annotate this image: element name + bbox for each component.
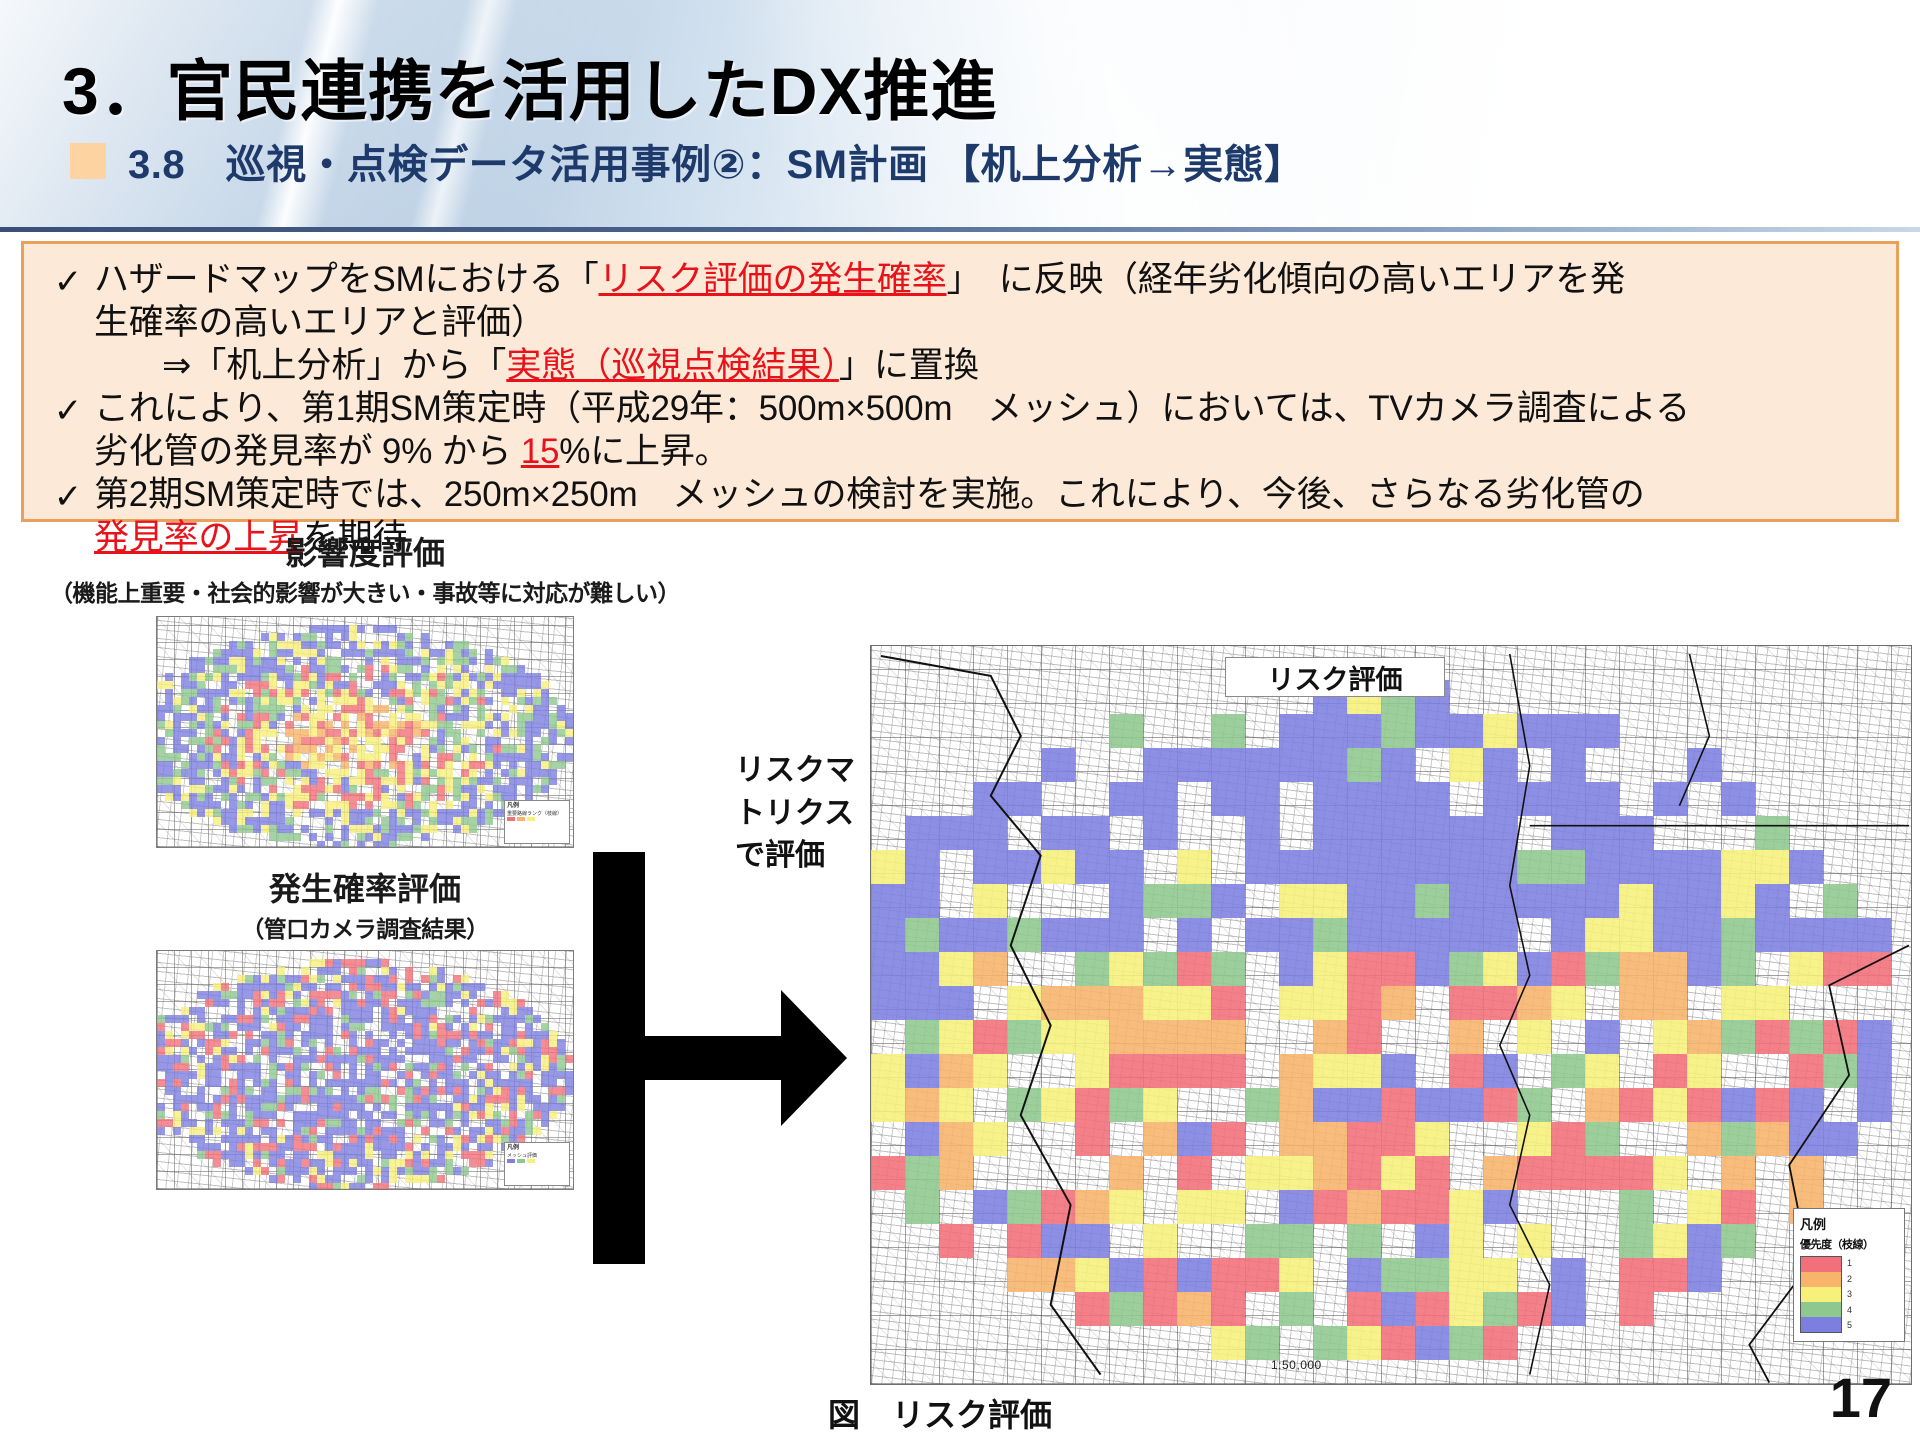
mesh-cell	[373, 705, 381, 713]
mesh-cell	[437, 753, 445, 761]
mesh-cell	[501, 657, 509, 665]
mesh-cell	[349, 785, 357, 793]
mesh-cell	[349, 975, 357, 983]
mesh-cell	[533, 689, 541, 697]
mesh-cell	[365, 1167, 373, 1175]
mesh-cell	[245, 729, 253, 737]
mesh-cell	[341, 1079, 349, 1087]
mesh-cell	[381, 817, 389, 825]
mesh-cell	[365, 793, 373, 801]
mesh-cell	[485, 681, 493, 689]
mesh-cell	[165, 777, 173, 785]
mesh-cell	[509, 1007, 517, 1015]
mesh-cell	[301, 785, 309, 793]
mesh-cell	[317, 689, 325, 697]
mesh-cell	[197, 705, 205, 713]
mesh-cell	[445, 817, 453, 825]
mesh-cell	[317, 649, 325, 657]
mesh-cell	[413, 1047, 421, 1055]
mesh-cell	[181, 1071, 189, 1079]
mesh-cell	[317, 793, 325, 801]
mesh-cell	[461, 1023, 469, 1031]
mesh-cell	[293, 769, 301, 777]
mesh-cell	[237, 689, 245, 697]
mesh-cell	[437, 1055, 445, 1063]
legend-rank-3: 3	[1847, 1287, 1852, 1302]
mesh-cell	[189, 761, 197, 769]
mesh-cell	[173, 1095, 181, 1103]
mesh-cell	[437, 1143, 445, 1151]
mesh-cell	[453, 785, 461, 793]
mesh-cell	[325, 1103, 333, 1111]
mesh-cell	[277, 983, 285, 991]
mesh-cell	[285, 1087, 293, 1095]
mesh-cell	[309, 1095, 317, 1103]
mesh-cell	[325, 753, 333, 761]
mesh-cell	[277, 769, 285, 777]
mesh-cell	[413, 801, 421, 809]
mesh-cell	[357, 809, 365, 817]
mesh-cell	[565, 1087, 573, 1095]
mesh-cell	[245, 1015, 253, 1023]
mesh-cell	[477, 673, 485, 681]
mesh-cell	[317, 1111, 325, 1119]
mesh-cell	[285, 689, 293, 697]
mesh-cell	[341, 785, 349, 793]
mesh-cell	[229, 1063, 237, 1071]
mesh-cell	[277, 1063, 285, 1071]
mesh-cell	[485, 1079, 493, 1087]
mesh-cell	[445, 1039, 453, 1047]
mesh-cell	[381, 991, 389, 999]
mesh-cell	[437, 713, 445, 721]
mesh-cell	[293, 1015, 301, 1023]
mesh-cell	[341, 999, 349, 1007]
mesh-cell	[333, 745, 341, 753]
mesh-cell	[373, 1135, 381, 1143]
mesh-cell	[269, 1159, 277, 1167]
legend-swatch-5	[1801, 1317, 1841, 1332]
mesh-cell	[229, 745, 237, 753]
mesh-cell	[317, 697, 325, 705]
mesh-cell	[453, 705, 461, 713]
mesh-cell	[253, 825, 261, 833]
mesh-cell	[333, 737, 341, 745]
mesh-cell	[245, 1047, 253, 1055]
mesh-cell	[333, 841, 341, 848]
mesh-cell	[437, 1039, 445, 1047]
mesh-cell	[309, 1007, 317, 1015]
mesh-cell	[493, 713, 501, 721]
mesh-cell	[373, 1039, 381, 1047]
mesh-cell	[293, 761, 301, 769]
mesh-cell	[333, 1183, 341, 1190]
mesh-cell	[493, 1079, 501, 1087]
mesh-cell	[373, 1095, 381, 1103]
legend-swatch-3	[527, 817, 535, 821]
mesh-cell	[181, 1039, 189, 1047]
mesh-cell	[189, 665, 197, 673]
mesh-cell	[229, 697, 237, 705]
mesh-cell	[357, 1007, 365, 1015]
mesh-cell	[213, 983, 221, 991]
mesh-cell	[205, 809, 213, 817]
mesh-cell	[333, 1175, 341, 1183]
mesh-cell	[357, 1079, 365, 1087]
mesh-cell	[253, 1111, 261, 1119]
mesh-cell	[509, 1087, 517, 1095]
mesh-cell	[205, 713, 213, 721]
mesh-cell	[469, 825, 477, 833]
mesh-cell	[181, 1023, 189, 1031]
mesh-cell	[445, 1151, 453, 1159]
mesh-cell	[381, 777, 389, 785]
mesh-cell	[525, 1007, 533, 1015]
mesh-cell	[261, 1167, 269, 1175]
mesh-cell	[293, 785, 301, 793]
mesh-cell	[413, 1135, 421, 1143]
mesh-cell	[197, 673, 205, 681]
mesh-cell	[373, 1167, 381, 1175]
mesh-cell	[445, 729, 453, 737]
bullet-item-2: ✓ これにより、第1期SM策定時（平成29年：500m×500m メッシュ）にお…	[42, 387, 1876, 473]
mesh-cell	[173, 1103, 181, 1111]
risk-matrix-label-line-3: で評価	[735, 835, 865, 878]
mesh-cell	[381, 1095, 389, 1103]
mesh-cell	[389, 641, 397, 649]
mesh-cell	[205, 1079, 213, 1087]
mesh-cell	[269, 975, 277, 983]
mesh-cell	[309, 777, 317, 785]
mesh-cell	[333, 785, 341, 793]
mesh-cell	[365, 689, 373, 697]
mesh-cell	[381, 975, 389, 983]
mesh-cell	[453, 1087, 461, 1095]
mesh-cell	[501, 665, 509, 673]
mesh-cell	[437, 991, 445, 999]
mesh-cell	[189, 1047, 197, 1055]
mesh-cell	[221, 737, 229, 745]
mesh-cell	[309, 959, 317, 967]
mesh-cell	[229, 1127, 237, 1135]
mesh-cell	[173, 713, 181, 721]
mesh-cell	[229, 777, 237, 785]
mesh-cell	[269, 1063, 277, 1071]
mesh-cell	[317, 1175, 325, 1183]
mesh-cell	[277, 1143, 285, 1151]
mesh-cell	[453, 793, 461, 801]
mesh-cell	[253, 983, 261, 991]
mesh-cell	[437, 975, 445, 983]
mesh-cell	[373, 975, 381, 983]
mesh-cell	[213, 1023, 221, 1031]
mesh-cell	[557, 1087, 565, 1095]
mesh-cell	[237, 753, 245, 761]
mesh-cell	[557, 1103, 565, 1111]
mesh-cell	[453, 1111, 461, 1119]
mesh-cell	[517, 1063, 525, 1071]
mesh-cell	[285, 1023, 293, 1031]
mesh-cell	[253, 689, 261, 697]
mesh-cell	[357, 967, 365, 975]
mesh-cell	[181, 1103, 189, 1111]
mesh-cell	[269, 1023, 277, 1031]
mesh-cell	[525, 737, 533, 745]
mesh-cell	[277, 1015, 285, 1023]
mesh-cell	[485, 721, 493, 729]
mesh-cell	[373, 793, 381, 801]
mesh-cell	[229, 657, 237, 665]
mesh-cell	[397, 705, 405, 713]
mesh-cell	[213, 753, 221, 761]
mesh-cell	[325, 1183, 333, 1190]
mesh-cell	[413, 1103, 421, 1111]
mesh-cell	[437, 1135, 445, 1143]
mesh-cell	[269, 793, 277, 801]
mesh-cell	[349, 777, 357, 785]
risk-legend-scale: 12345	[1800, 1256, 1898, 1333]
mesh-cell	[221, 753, 229, 761]
mesh-cell	[165, 705, 173, 713]
mesh-cell	[341, 681, 349, 689]
failure-probability-map[interactable]: 凡例 メッシュ評価	[156, 950, 574, 1190]
mesh-cell	[309, 1071, 317, 1079]
mesh-cell	[237, 777, 245, 785]
mesh-cell	[309, 1079, 317, 1087]
mesh-cell	[293, 689, 301, 697]
mesh-cell	[309, 641, 317, 649]
probability-map-legend: 凡例 メッシュ評価	[504, 1142, 570, 1186]
mesh-cell	[229, 689, 237, 697]
mesh-cell	[261, 721, 269, 729]
check-icon: ✓	[42, 473, 94, 518]
mesh-cell	[245, 1095, 253, 1103]
mesh-cell	[357, 841, 365, 848]
mesh-cell	[341, 1127, 349, 1135]
mesh-cell	[373, 649, 381, 657]
mesh-cell	[245, 1119, 253, 1127]
mesh-cell	[277, 1039, 285, 1047]
mesh-cell	[309, 1031, 317, 1039]
mesh-cell	[277, 967, 285, 975]
mesh-cell	[341, 1007, 349, 1015]
mesh-cell	[309, 737, 317, 745]
mesh-cell	[205, 1151, 213, 1159]
mesh-cell	[469, 1047, 477, 1055]
mesh-cell	[293, 1023, 301, 1031]
mesh-cell	[293, 1047, 301, 1055]
mesh-cell	[397, 1015, 405, 1023]
mesh-cell	[405, 777, 413, 785]
mesh-cell	[165, 1039, 173, 1047]
mesh-cell	[261, 777, 269, 785]
mesh-cell	[245, 825, 253, 833]
mesh-cell	[325, 1159, 333, 1167]
mesh-cell	[365, 825, 373, 833]
bullet-2-line-2: 劣化管の発見率が 9% から 15%に上昇。	[94, 430, 1690, 473]
mesh-cell	[229, 665, 237, 673]
mesh-cell	[301, 681, 309, 689]
mesh-cell	[541, 753, 549, 761]
mesh-cell	[197, 793, 205, 801]
mesh-cell	[325, 1023, 333, 1031]
mesh-cell	[261, 1079, 269, 1087]
mesh-cell	[197, 991, 205, 999]
mesh-cell	[461, 657, 469, 665]
mesh-cell	[221, 665, 229, 673]
mesh-cell	[509, 681, 517, 689]
mesh-cell	[269, 1087, 277, 1095]
mesh-cell	[293, 753, 301, 761]
mesh-cell	[445, 1015, 453, 1023]
mesh-cell	[237, 721, 245, 729]
mesh-cell	[389, 841, 397, 848]
mesh-cell	[389, 1079, 397, 1087]
mesh-cell	[517, 713, 525, 721]
mesh-cell	[293, 745, 301, 753]
mesh-cell	[357, 959, 365, 967]
mesh-cell	[413, 1167, 421, 1175]
mesh-cell	[301, 801, 309, 809]
mesh-cell	[181, 1111, 189, 1119]
mesh-cell	[381, 1167, 389, 1175]
mesh-cell	[557, 713, 565, 721]
mesh-cell	[317, 737, 325, 745]
mesh-cell	[501, 769, 509, 777]
mesh-cell	[405, 793, 413, 801]
risk-matrix-arrow-icon	[585, 840, 855, 1280]
mesh-cell	[357, 689, 365, 697]
mesh-cell	[245, 817, 253, 825]
mesh-cell	[221, 673, 229, 681]
mesh-cell	[221, 1015, 229, 1023]
mesh-cell	[253, 1063, 261, 1071]
mesh-cell	[389, 1151, 397, 1159]
mesh-cell	[365, 737, 373, 745]
mesh-cell	[237, 1071, 245, 1079]
mesh-cell	[325, 657, 333, 665]
mesh-cell	[165, 1031, 173, 1039]
legend-swatch-1	[1801, 1257, 1841, 1272]
mesh-cell	[533, 721, 541, 729]
mesh-cell	[341, 1087, 349, 1095]
mesh-cell	[341, 1183, 349, 1190]
mesh-cell	[477, 1103, 485, 1111]
mesh-cell	[469, 1135, 477, 1143]
mesh-cell	[309, 1127, 317, 1135]
mesh-cell	[381, 745, 389, 753]
mesh-cell	[309, 991, 317, 999]
mesh-cell	[269, 705, 277, 713]
mesh-cell	[381, 641, 389, 649]
mesh-cell	[157, 1039, 165, 1047]
mesh-cell	[461, 825, 469, 833]
mesh-cell	[181, 1079, 189, 1087]
mesh-cell	[485, 1095, 493, 1103]
mesh-cell	[213, 1063, 221, 1071]
mesh-cell	[517, 689, 525, 697]
mesh-cell	[333, 1103, 341, 1111]
mesh-cell	[293, 673, 301, 681]
mesh-cell	[485, 665, 493, 673]
mesh-cell	[309, 681, 317, 689]
mesh-cell	[253, 705, 261, 713]
mesh-cell	[509, 1119, 517, 1127]
mesh-cell	[197, 801, 205, 809]
mesh-cell	[525, 1047, 533, 1055]
mesh-cell	[477, 721, 485, 729]
mesh-cell	[437, 983, 445, 991]
mesh-cell	[549, 1079, 557, 1087]
mesh-cell	[461, 745, 469, 753]
mesh-cell	[381, 785, 389, 793]
mesh-cell	[397, 817, 405, 825]
mesh-cell	[165, 793, 173, 801]
mesh-cell	[509, 689, 517, 697]
mesh-cell	[237, 649, 245, 657]
mesh-cell	[421, 649, 429, 657]
mesh-cell	[325, 1015, 333, 1023]
mesh-cell	[309, 625, 317, 633]
impact-assessment-map[interactable]: 凡例 重要路線ランク（枝線）	[156, 616, 574, 848]
mesh-cell	[365, 777, 373, 785]
mesh-cell	[157, 1111, 165, 1119]
mesh-cell	[205, 753, 213, 761]
mesh-cell	[533, 697, 541, 705]
mesh-cell	[181, 1063, 189, 1071]
mesh-cell	[397, 1087, 405, 1095]
mesh-cell	[213, 705, 221, 713]
mesh-cell	[245, 1071, 253, 1079]
mesh-cell	[253, 737, 261, 745]
mesh-cell	[229, 1087, 237, 1095]
mesh-cell	[469, 1151, 477, 1159]
mesh-cell	[453, 809, 461, 817]
mesh-cell	[413, 729, 421, 737]
mesh-cell	[333, 1143, 341, 1151]
mesh-cell	[509, 673, 517, 681]
mesh-cell	[421, 793, 429, 801]
mesh-cell	[429, 1047, 437, 1055]
mesh-cell	[381, 1127, 389, 1135]
mesh-cell	[333, 1071, 341, 1079]
mesh-cell	[349, 1063, 357, 1071]
mesh-cell	[517, 777, 525, 785]
mesh-cell	[405, 1063, 413, 1071]
mesh-cell	[349, 1047, 357, 1055]
mesh-cell	[397, 1127, 405, 1135]
legend-rank-1: 1	[1847, 1256, 1852, 1271]
mesh-cell	[213, 1103, 221, 1111]
mesh-cell	[477, 983, 485, 991]
mesh-cell	[373, 721, 381, 729]
mesh-cell	[245, 713, 253, 721]
mesh-cell	[413, 681, 421, 689]
mesh-cell	[445, 1127, 453, 1135]
risk-evaluation-map[interactable]: リスク評価 1:50,000 凡例 優先度（枝線） 12345	[870, 645, 1912, 1385]
mesh-cell	[437, 737, 445, 745]
mesh-cell	[365, 729, 373, 737]
mesh-cell	[285, 1015, 293, 1023]
mesh-cell	[549, 1071, 557, 1079]
mesh-cell	[253, 697, 261, 705]
mesh-cell	[549, 1039, 557, 1047]
mesh-cell	[317, 777, 325, 785]
mesh-cell	[285, 1063, 293, 1071]
mesh-cell	[461, 1135, 469, 1143]
mesh-cell	[461, 761, 469, 769]
mesh-cell	[237, 975, 245, 983]
